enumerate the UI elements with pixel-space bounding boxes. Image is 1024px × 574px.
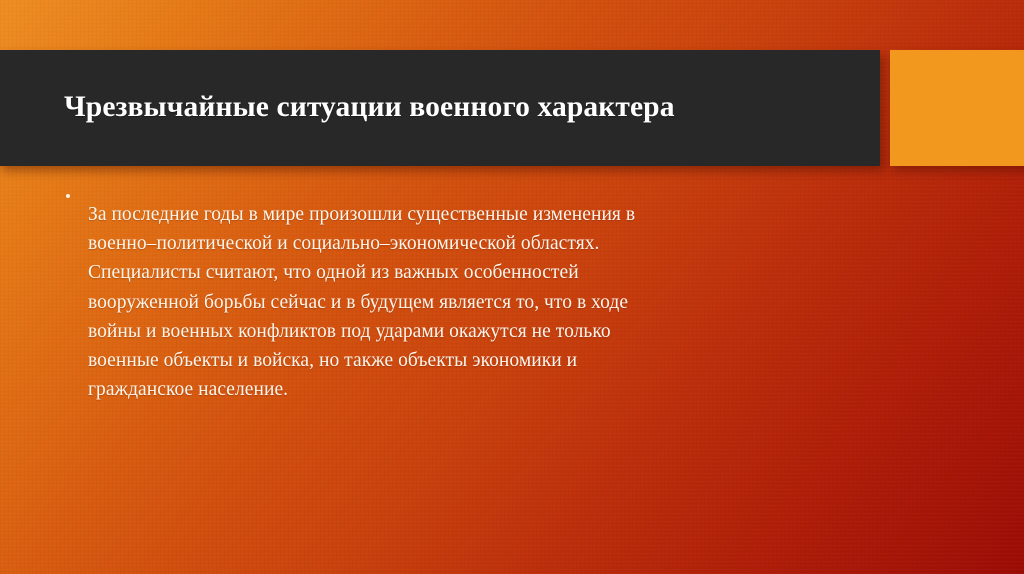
body-line: Специалисты считают, что одной из важных… (88, 258, 844, 287)
body-paragraph: За последние годы в мире произошли сущес… (88, 186, 844, 404)
bullet-list-item: За последние годы в мире произошли сущес… (0, 186, 1024, 404)
body-line: военно–политической и социально–экономич… (88, 229, 844, 258)
slide: Чрезвычайные ситуации военного характера… (0, 0, 1024, 574)
body-content: За последние годы в мире произошли сущес… (0, 186, 1024, 404)
body-line: гражданское население. (88, 375, 844, 404)
page-title: Чрезвычайные ситуации военного характера (0, 90, 675, 127)
body-line: военные объекты и войска, но также объек… (88, 346, 844, 375)
body-line: войны и военных конфликтов под ударами о… (88, 317, 844, 346)
body-line: вооруженной борьбы сейчас и в будущем яв… (88, 288, 844, 317)
bullet-point-icon (66, 194, 70, 198)
body-line: За последние годы в мире произошли сущес… (88, 200, 844, 229)
accent-square-decoration (890, 50, 1024, 166)
title-band: Чрезвычайные ситуации военного характера (0, 50, 880, 166)
